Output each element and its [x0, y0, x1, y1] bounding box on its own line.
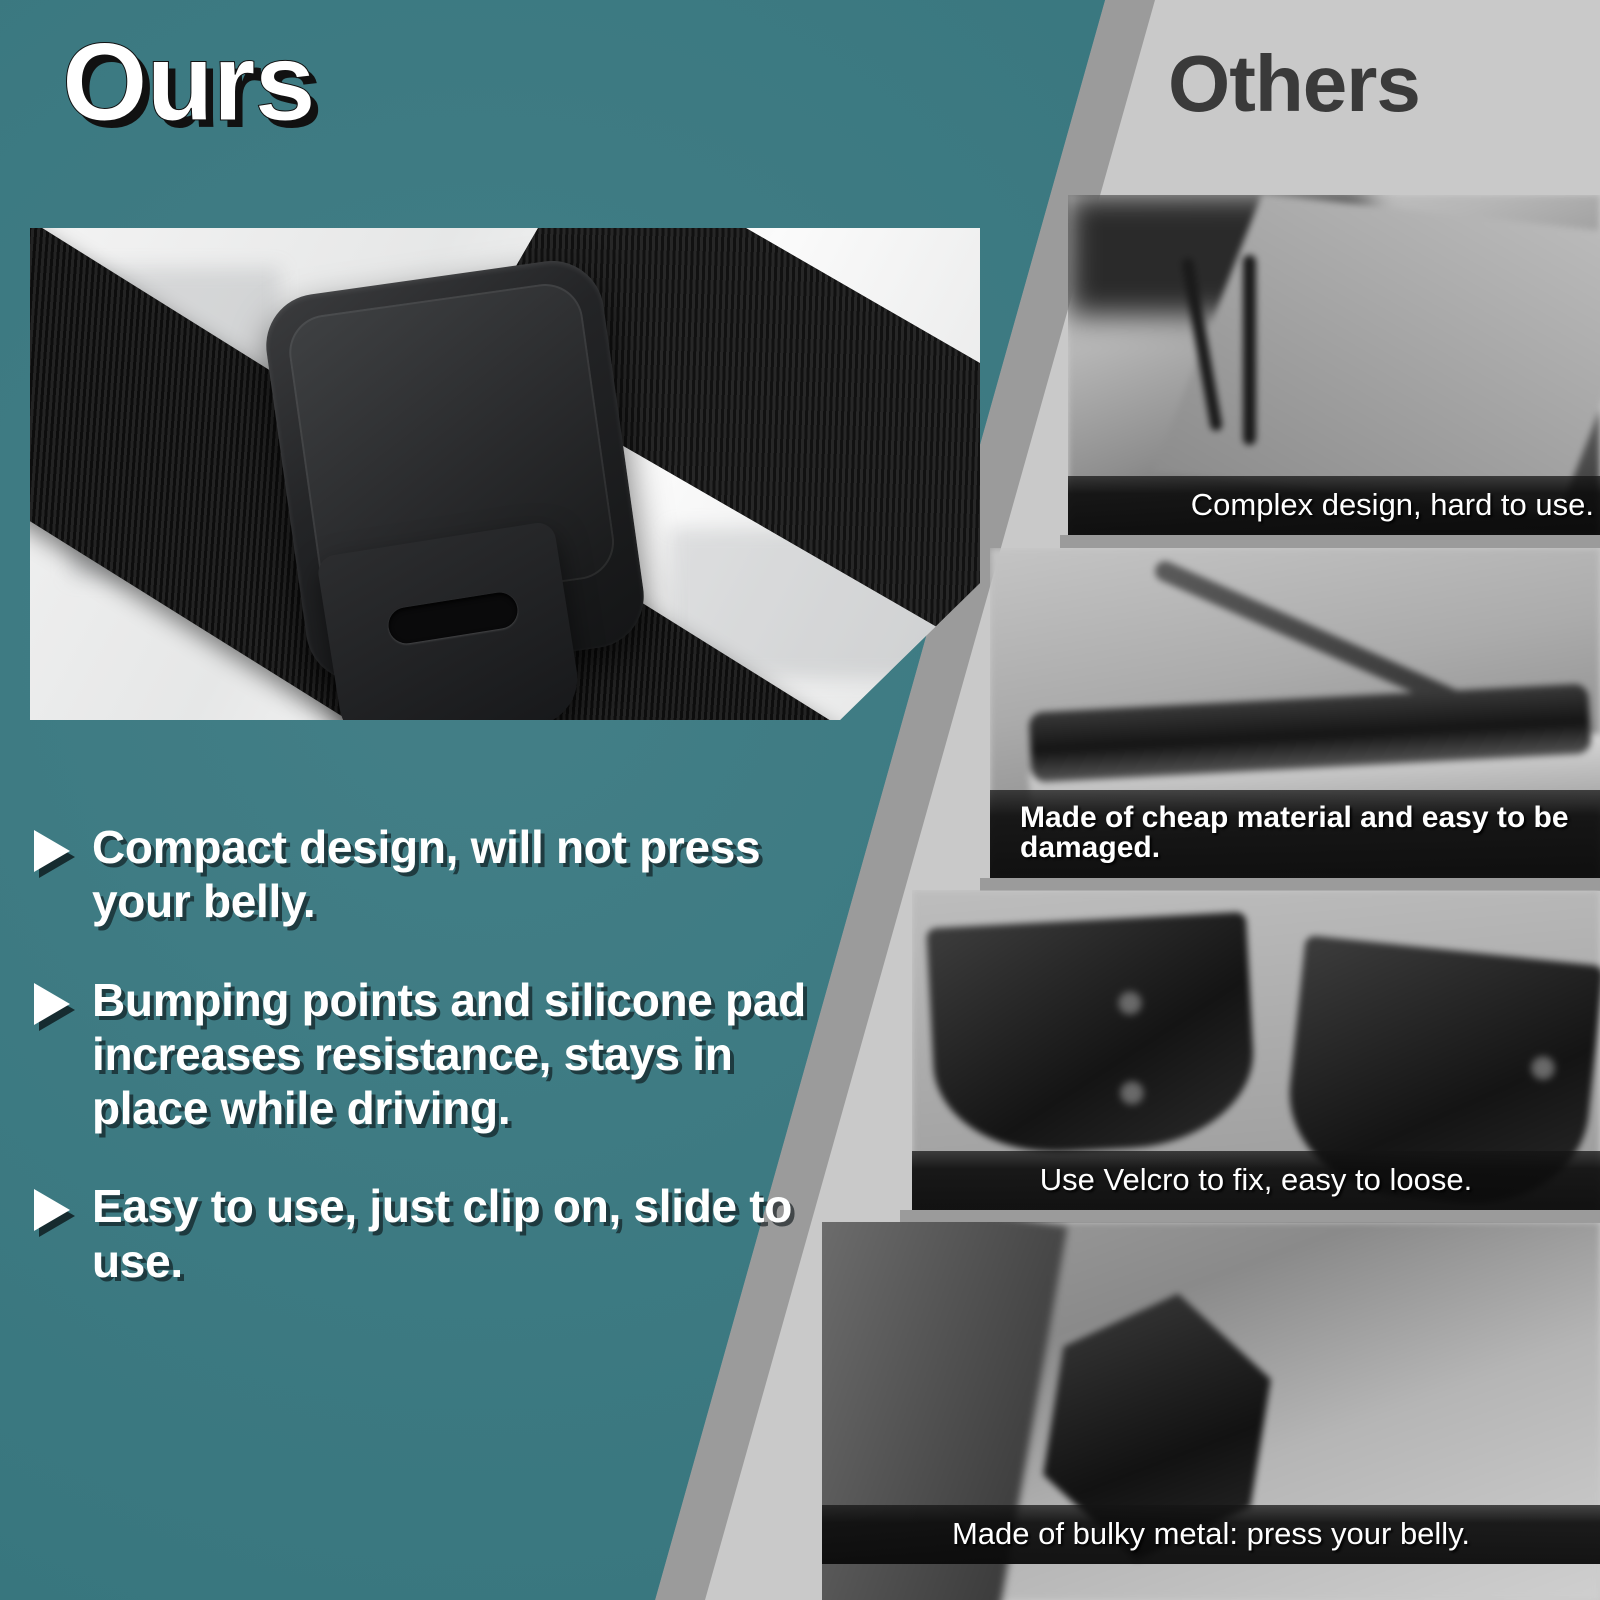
ours-product-photo [30, 228, 980, 720]
list-item: Compact design, will not press your bell… [34, 820, 824, 929]
velcro-strap-left [926, 912, 1258, 1158]
others-panel-3: Use Velcro to fix, easy to loose. [912, 890, 1600, 1210]
others-title: Others [1168, 44, 1420, 124]
ours-title: Ours [62, 28, 315, 138]
snap-button [1119, 1080, 1145, 1106]
others-panel-2: Made of cheap material and easy to be da… [990, 548, 1600, 878]
caption-3: Use Velcro to fix, easy to loose. [912, 1151, 1600, 1210]
ours-feature-list: Compact design, will not press your bell… [34, 820, 824, 1332]
caption-2: Made of cheap material and easy to be da… [990, 790, 1600, 878]
list-item: Bumping points and silicone pad increase… [34, 973, 824, 1136]
others-panel-4: Made of bulky metal: press your belly. [822, 1222, 1600, 1600]
panel-separator [1060, 535, 1600, 548]
feature-text: Easy to use, just clip on, slide to use. [92, 1179, 824, 1288]
caption-1: Complex design, hard to use. [1068, 476, 1600, 535]
snap-button [1117, 990, 1143, 1016]
feature-text: Compact design, will not press your bell… [92, 820, 824, 929]
caption-4: Made of bulky metal: press your belly. [822, 1505, 1600, 1564]
list-item: Easy to use, just clip on, slide to use. [34, 1179, 824, 1288]
triangle-right-icon [34, 830, 70, 872]
triangle-right-icon [34, 1189, 70, 1231]
triangle-right-icon [34, 983, 70, 1025]
feature-text: Bumping points and silicone pad increase… [92, 973, 824, 1136]
snap-button [1530, 1055, 1556, 1081]
infographic-root: Ours Others Compact design, will not pre… [0, 0, 1600, 1600]
photo-rod [1243, 255, 1256, 445]
others-panel-1: Complex design, hard to use. [1068, 195, 1600, 535]
